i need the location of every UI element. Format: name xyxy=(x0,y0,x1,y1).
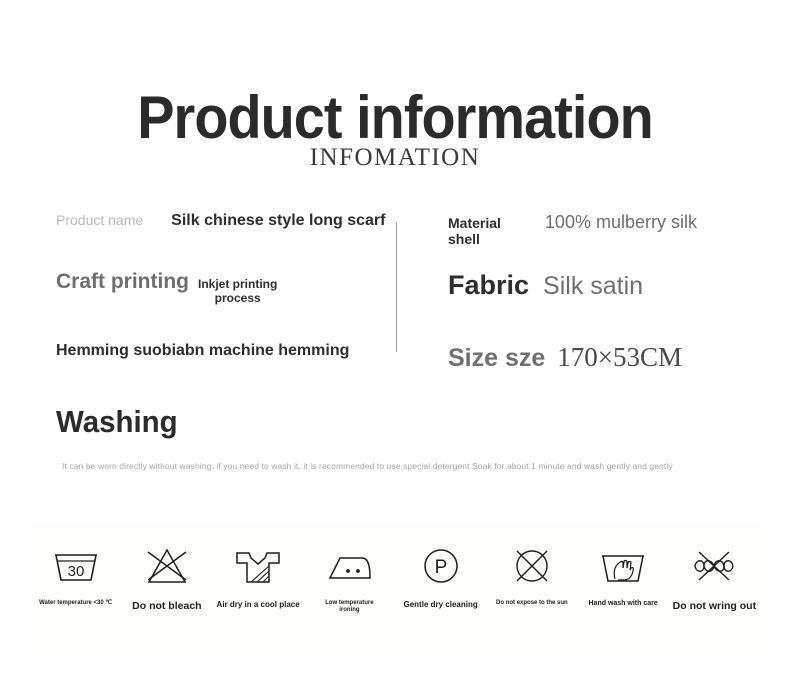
dry-clean-p-icon: P xyxy=(414,540,468,592)
care-label-air-dry: Air dry in a cool place xyxy=(215,600,302,610)
column-divider xyxy=(396,222,397,352)
care-item-do-not-wring: Do not wring out xyxy=(669,540,760,613)
spec-value-size: 170×53CM xyxy=(557,342,682,373)
spec-value-fabric: Silk satin xyxy=(543,272,643,301)
wash-tub-30-icon: 30 xyxy=(49,540,103,592)
care-label-do-not-bleach: Do not bleach xyxy=(130,600,203,613)
specification-grid: Product name Silk chinese style long sca… xyxy=(0,196,790,386)
spec-value-hemming: Hemming suobiabn machine hemming xyxy=(56,342,349,360)
wash-temperature-text: 30 xyxy=(67,563,84,580)
air-dry-shirt-icon xyxy=(231,540,285,592)
washing-description: It can be worn directly without washing.… xyxy=(62,461,742,471)
spec-value-material-shell: 100% mulberry silk xyxy=(545,212,697,233)
care-label-do-not-wring: Do not wring out xyxy=(671,600,758,613)
hand-wash-icon xyxy=(596,540,650,592)
care-symbols-row: 30 Water temperature <30 ℃ Do not bleach xyxy=(30,540,760,640)
care-item-dry-cleaning: P Gentle dry cleaning xyxy=(395,540,486,610)
spec-label-product-name: Product name xyxy=(56,212,143,228)
care-item-do-not-bleach: Do not bleach xyxy=(121,540,212,613)
spec-row-hemming: Hemming suobiabn machine hemming xyxy=(56,342,386,360)
care-label-water-temperature: Water temperature <30 ℃ xyxy=(37,600,114,607)
product-information-page: Product information INFOMATION Product n… xyxy=(0,0,790,690)
care-item-air-dry: Air dry in a cool place xyxy=(213,540,304,610)
spec-row-material-shell: Material shell 100% mulberry silk xyxy=(448,212,768,247)
low-temperature-iron-icon xyxy=(322,540,376,592)
spec-label-craft-printing: Craft printing xyxy=(56,270,189,294)
page-title: Product information xyxy=(28,88,763,148)
care-item-hand-wash: Hand wash with care xyxy=(578,540,669,608)
care-item-no-sun-exposure: Do not expose to the sun xyxy=(486,540,577,607)
care-label-hand-wash: Hand wash with care xyxy=(587,600,660,608)
spec-row-fabric: Fabric Silk satin xyxy=(448,270,768,301)
spec-row-product-name: Product name Silk chinese style long sca… xyxy=(56,212,386,230)
page-header: Product information INFOMATION xyxy=(0,88,790,172)
spec-row-size: Size sze 170×53CM xyxy=(448,342,768,373)
spec-value-product-name: Silk chinese style long scarf xyxy=(171,212,385,230)
spec-label-fabric: Fabric xyxy=(448,270,529,301)
dry-clean-letter: P xyxy=(434,557,447,578)
care-label-no-sun-exposure: Do not expose to the sun xyxy=(494,600,570,607)
do-not-bleach-icon xyxy=(140,540,194,592)
no-sun-exposure-icon xyxy=(505,540,559,592)
spec-row-craft-printing: Craft printing Inkjet printing process xyxy=(56,270,386,306)
spec-value-craft-printing: Inkjet printing process xyxy=(198,278,277,306)
care-item-water-temperature: 30 Water temperature <30 ℃ xyxy=(30,540,121,607)
do-not-wring-icon xyxy=(687,540,741,592)
washing-heading: Washing xyxy=(56,404,178,440)
spec-label-material-shell: Material shell xyxy=(448,215,501,247)
care-label-dry-cleaning: Gentle dry cleaning xyxy=(402,600,480,610)
care-item-low-temperature-ironing: Low temperature ironing xyxy=(304,540,395,614)
spec-label-size: Size sze xyxy=(448,344,545,373)
care-label-low-temperature-ironing: Low temperature ironing xyxy=(323,600,375,614)
